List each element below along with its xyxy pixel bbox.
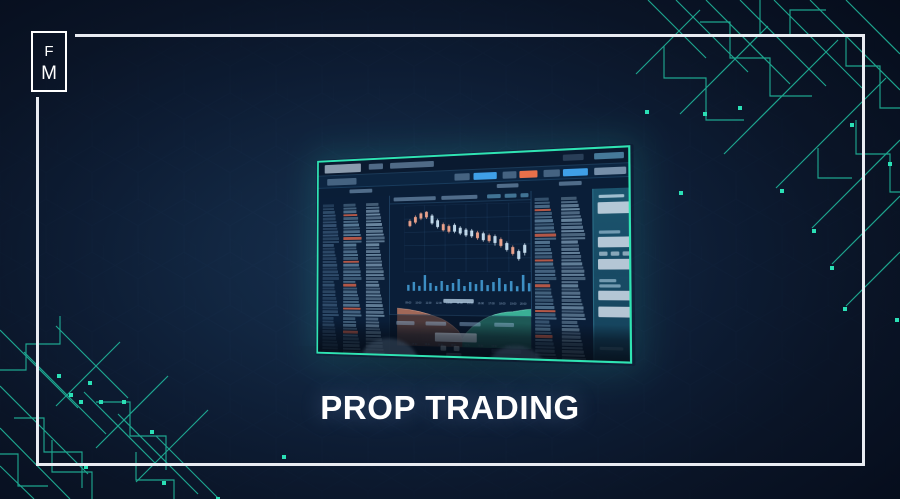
table-row[interactable] <box>366 236 384 239</box>
table-row[interactable] <box>366 274 384 276</box>
candlestick-chart[interactable]: 39,100 38,900 38,700 38,500 38,300 38,10… <box>404 202 530 272</box>
table-row[interactable] <box>343 307 360 310</box>
table-row[interactable] <box>561 229 584 232</box>
quote-value-1 <box>519 170 537 178</box>
table-row[interactable] <box>323 307 338 310</box>
quote-value-2 <box>563 168 588 176</box>
table-row[interactable] <box>343 264 359 266</box>
table-row[interactable] <box>323 208 334 211</box>
table-row[interactable] <box>323 231 338 234</box>
table-row[interactable] <box>343 297 358 300</box>
table-row[interactable] <box>535 262 554 265</box>
table-row[interactable] <box>343 270 360 272</box>
table-row[interactable] <box>561 251 580 254</box>
table-row[interactable] <box>323 284 335 286</box>
table-row[interactable] <box>535 201 550 204</box>
table-row[interactable] <box>322 310 338 313</box>
table-row[interactable] <box>562 302 583 305</box>
table-row[interactable] <box>343 214 357 217</box>
table-row[interactable] <box>343 240 362 243</box>
table-row[interactable] <box>323 204 334 207</box>
table-row[interactable] <box>535 223 554 226</box>
table-row[interactable] <box>561 266 583 269</box>
table-row[interactable] <box>561 211 580 214</box>
table-row[interactable] <box>561 262 582 265</box>
menu-item-market[interactable] <box>369 163 383 169</box>
table-row[interactable] <box>535 291 552 294</box>
table-row[interactable] <box>561 270 583 273</box>
table-row[interactable] <box>323 211 335 214</box>
table-row[interactable] <box>343 234 360 237</box>
table-row[interactable] <box>366 297 382 300</box>
table-row[interactable] <box>366 253 381 256</box>
table-row[interactable] <box>343 217 358 220</box>
table-row[interactable] <box>366 287 380 289</box>
table-row[interactable] <box>323 270 338 272</box>
table-row[interactable] <box>535 270 555 273</box>
table-row[interactable] <box>561 273 584 276</box>
table-row[interactable] <box>343 204 355 207</box>
table-row[interactable] <box>561 281 577 284</box>
table-row[interactable] <box>561 200 578 203</box>
table-row[interactable] <box>323 247 335 250</box>
chart-legend-volume[interactable] <box>505 193 517 197</box>
table-row[interactable] <box>343 294 358 296</box>
panel-field-balance[interactable] <box>598 201 630 213</box>
table-row[interactable] <box>535 317 556 320</box>
table-row[interactable] <box>535 233 556 236</box>
table-row[interactable] <box>535 281 550 284</box>
table-row[interactable] <box>343 210 356 213</box>
monitor-perspective: 39,100 38,900 38,700 38,500 38,300 38,10… <box>313 129 641 371</box>
quote-value-3 <box>594 167 626 176</box>
table-row[interactable] <box>535 288 551 291</box>
table-row[interactable] <box>535 244 550 247</box>
table-row[interactable] <box>562 310 584 313</box>
table-row[interactable] <box>366 247 379 250</box>
table-row[interactable] <box>323 224 337 227</box>
table-row[interactable] <box>343 254 357 257</box>
chart-legend-ma[interactable] <box>521 193 529 197</box>
frame-border-bottom <box>36 463 865 466</box>
table-row[interactable] <box>366 270 384 272</box>
table-row[interactable] <box>535 259 553 262</box>
panel-button-close[interactable] <box>623 251 631 255</box>
tab-positions[interactable] <box>497 183 519 188</box>
dashboard-screen: 39,100 38,900 38,700 38,500 38,300 38,10… <box>318 147 630 361</box>
table-row[interactable] <box>535 248 551 251</box>
table-row[interactable] <box>366 307 383 310</box>
table-row[interactable] <box>366 294 381 297</box>
table-row[interactable] <box>562 288 580 291</box>
table-row[interactable] <box>323 304 338 307</box>
table-row[interactable] <box>343 227 359 230</box>
table-row[interactable] <box>343 260 359 262</box>
table-row[interactable] <box>343 284 356 286</box>
table-row[interactable] <box>561 204 578 207</box>
table-row[interactable] <box>562 295 581 298</box>
table-row[interactable] <box>366 210 380 213</box>
table-row[interactable] <box>366 223 382 226</box>
table-row[interactable] <box>366 250 380 253</box>
menu-item-account[interactable] <box>563 154 584 161</box>
table-row[interactable] <box>535 208 551 211</box>
table-row[interactable] <box>343 274 361 276</box>
table-row[interactable] <box>366 264 382 267</box>
quote-label-2 <box>544 169 560 177</box>
panel-button-buy[interactable] <box>599 252 608 256</box>
table-row[interactable] <box>366 267 383 269</box>
menu-item-terminal[interactable] <box>390 161 434 169</box>
table-row[interactable] <box>562 284 579 287</box>
page-title: PROP TRADING <box>0 389 900 427</box>
hand-silhouette-left <box>360 338 420 364</box>
table-row[interactable] <box>323 251 335 253</box>
panel-section-equity <box>599 230 620 234</box>
promo-banner: F M <box>0 0 900 499</box>
table-row[interactable] <box>366 311 384 314</box>
table-row[interactable] <box>562 299 582 302</box>
table-row[interactable] <box>343 257 358 260</box>
trading-dashboard-image: 39,100 38,900 38,700 38,500 38,300 38,10… <box>296 138 636 364</box>
fm-logo: F M <box>31 31 67 92</box>
table-row[interactable] <box>561 197 577 200</box>
platform-logo <box>325 163 361 173</box>
panel-field-equity[interactable] <box>598 236 630 247</box>
volume-bars <box>404 273 531 292</box>
table-row[interactable] <box>366 243 379 246</box>
panel-label-pl <box>599 279 616 282</box>
table-row[interactable] <box>343 314 361 317</box>
table-row[interactable] <box>366 233 384 236</box>
table-row[interactable] <box>535 198 549 201</box>
table-row[interactable] <box>366 216 381 219</box>
table-row[interactable] <box>535 237 557 240</box>
table-row[interactable] <box>561 237 585 240</box>
table-row[interactable] <box>366 240 385 243</box>
table-row[interactable] <box>366 280 379 282</box>
panel-field-margin[interactable] <box>598 259 630 270</box>
table-row[interactable] <box>366 260 382 263</box>
table-row[interactable] <box>535 284 550 287</box>
table-row[interactable] <box>561 244 578 247</box>
table-row[interactable] <box>323 277 339 279</box>
table-row[interactable] <box>535 313 556 316</box>
user-badge[interactable] <box>594 152 624 160</box>
table-row[interactable] <box>323 274 339 276</box>
tab-watchlist[interactable] <box>350 189 373 194</box>
time-axis: 09:0010:00 11:0012:00 13:0014:00 15:0016… <box>404 292 531 298</box>
table-row[interactable] <box>535 226 555 229</box>
table-row[interactable] <box>323 217 336 220</box>
panel-field-pl[interactable] <box>598 291 630 301</box>
table-row[interactable] <box>366 230 383 233</box>
table-row[interactable] <box>323 254 336 256</box>
table-row[interactable] <box>343 250 357 253</box>
table-row[interactable] <box>561 207 579 210</box>
table-row[interactable] <box>366 206 379 209</box>
table-row[interactable] <box>323 214 335 217</box>
chart-legend-candle[interactable] <box>487 194 501 198</box>
table-row[interactable] <box>343 304 359 307</box>
table-row[interactable] <box>343 290 357 292</box>
table-row[interactable] <box>562 317 586 320</box>
table-row[interactable] <box>323 221 336 224</box>
quote-label-1 <box>503 171 517 179</box>
table-row[interactable] <box>343 224 359 227</box>
table-row[interactable] <box>343 247 356 250</box>
table-row[interactable] <box>323 297 337 299</box>
table-row[interactable] <box>562 306 584 309</box>
depth-chart-title <box>443 299 473 303</box>
table-row[interactable] <box>323 264 337 266</box>
fm-logo-letter-f: F <box>33 44 65 59</box>
table-row[interactable] <box>535 302 554 305</box>
table-row[interactable] <box>323 300 337 303</box>
table-row[interactable] <box>366 277 385 279</box>
table-row[interactable] <box>343 300 359 303</box>
table-row[interactable] <box>366 314 385 317</box>
table-row[interactable] <box>366 203 378 206</box>
table-row[interactable] <box>562 292 580 295</box>
table-row[interactable] <box>366 291 380 293</box>
table-row[interactable] <box>323 267 338 269</box>
table-row[interactable] <box>535 299 553 302</box>
table-row[interactable] <box>343 277 361 279</box>
table-row[interactable] <box>343 267 360 269</box>
table-row[interactable] <box>323 257 336 259</box>
table-row[interactable] <box>323 244 334 247</box>
table-row[interactable] <box>343 237 361 240</box>
table-row[interactable] <box>561 218 581 221</box>
table-row[interactable] <box>535 306 554 309</box>
quote-label-0 <box>454 173 469 181</box>
table-row[interactable] <box>343 207 356 210</box>
panel-button-sell[interactable] <box>611 251 620 255</box>
table-row[interactable] <box>535 215 553 218</box>
table-row[interactable] <box>535 230 555 233</box>
table-row[interactable] <box>561 222 582 225</box>
table-row[interactable] <box>535 205 551 208</box>
table-row[interactable] <box>366 284 379 286</box>
fm-logo-letter-m: M <box>33 64 65 83</box>
table-row[interactable] <box>535 219 553 222</box>
table-row[interactable] <box>562 313 585 316</box>
table-row[interactable] <box>535 273 556 276</box>
panel-title <box>599 194 625 198</box>
table-row[interactable] <box>322 313 338 316</box>
table-row[interactable] <box>535 252 552 255</box>
table-row[interactable] <box>535 241 550 244</box>
table-row[interactable] <box>366 301 382 304</box>
table-row[interactable] <box>323 227 338 230</box>
table-row[interactable] <box>366 304 383 307</box>
table-row[interactable] <box>535 295 552 298</box>
frame-border-top <box>75 34 865 37</box>
table-row[interactable] <box>366 220 381 223</box>
table-row[interactable] <box>323 280 334 282</box>
table-row[interactable] <box>323 287 335 289</box>
table-row[interactable] <box>343 230 360 233</box>
panel-label-pl-value <box>599 284 620 287</box>
table-row[interactable] <box>561 277 585 280</box>
chart-ohlc-values <box>394 196 436 201</box>
table-row[interactable] <box>343 280 355 282</box>
table-row[interactable] <box>561 233 584 236</box>
table-row[interactable] <box>535 277 557 280</box>
table-row[interactable] <box>535 309 555 312</box>
watchlist-tab[interactable] <box>327 178 356 186</box>
table-row[interactable] <box>366 226 383 229</box>
screen-cyan-frame: 39,100 38,900 38,700 38,500 38,300 38,10… <box>316 145 632 364</box>
table-row[interactable] <box>561 215 581 218</box>
tab-orders[interactable] <box>559 181 582 186</box>
table-row[interactable] <box>535 212 552 215</box>
table-row[interactable] <box>323 234 339 237</box>
table-row[interactable] <box>561 226 583 229</box>
table-row[interactable] <box>535 266 554 269</box>
panel-field-extra[interactable] <box>598 307 630 318</box>
table-row[interactable] <box>323 294 336 296</box>
table-row[interactable] <box>561 248 579 251</box>
table-row[interactable] <box>323 237 339 240</box>
table-row[interactable] <box>366 257 381 260</box>
table-row[interactable] <box>343 287 357 289</box>
table-row[interactable] <box>323 241 340 244</box>
table-row[interactable] <box>561 255 580 258</box>
table-row[interactable] <box>343 244 356 247</box>
table-row[interactable] <box>323 290 336 292</box>
table-row[interactable] <box>561 259 581 262</box>
table-row[interactable] <box>561 240 577 243</box>
table-row[interactable] <box>323 260 337 262</box>
table-row[interactable] <box>535 255 552 258</box>
table-row[interactable] <box>343 310 361 313</box>
chart-ohlc-values-2 <box>441 195 477 200</box>
quote-value-0 <box>474 172 497 180</box>
table-row[interactable] <box>366 213 380 216</box>
table-row[interactable] <box>343 220 358 223</box>
